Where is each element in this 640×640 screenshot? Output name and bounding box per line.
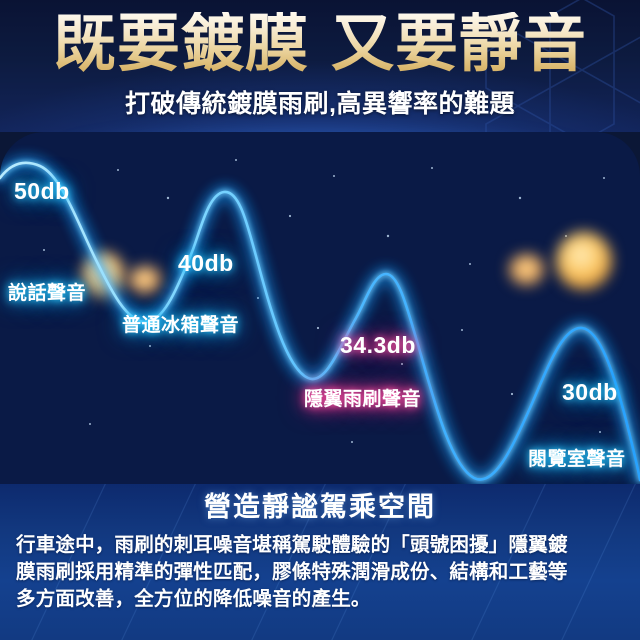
footer-paragraph-line-2: 膜雨刷採用精準的彈性匹配，膠條特殊潤滑成份、結構和工藝等 — [16, 559, 624, 586]
footer-paragraph: 行車途中，雨刷的刺耳噪音堪稱駕駛體驗的「頭號困擾」隱翼鍍 膜雨刷採用精準的彈性匹… — [16, 532, 624, 613]
noise-level-wave — [0, 132, 640, 490]
footer-heading: 營造靜謐駕乘空間 — [0, 492, 640, 522]
data-label-name-1: 普通冰箱聲音 — [122, 310, 239, 337]
data-label-value-3: 30db — [562, 379, 618, 406]
data-label-name-0: 說話聲音 — [8, 278, 86, 305]
noise-chart-panel: 50db 說話聲音 40db 普通冰箱聲音 34.3db 隱翼雨刷聲音 30db… — [0, 132, 640, 490]
data-label-value-0: 50db — [14, 178, 70, 205]
page-title-part-1: 既要鍍膜 — [53, 9, 309, 79]
data-label-name-2: 隱翼雨刷聲音 — [304, 384, 421, 411]
promo-infographic: 既要鍍膜又要靜音 既要鍍膜又要靜音 打破傳統鍍膜雨刷,高異響率的難題 — [0, 0, 640, 640]
data-label-value-2: 34.3db — [340, 332, 416, 359]
page-title-part-2: 又要靜音 — [331, 9, 587, 79]
footer-description-block: 營造靜謐駕乘空間 行車途中，雨刷的刺耳噪音堪稱駕駛體驗的「頭號困擾」隱翼鍍 膜雨… — [0, 484, 640, 640]
footer-paragraph-line-3: 多方面改善，全方位的降低噪音的產生。 — [16, 586, 624, 613]
data-label-name-3: 閱覽室聲音 — [528, 444, 626, 471]
footer-paragraph-line-1: 行車途中，雨刷的刺耳噪音堪稱駕駛體驗的「頭號困擾」隱翼鍍 — [16, 532, 624, 559]
data-label-value-1: 40db — [178, 250, 234, 277]
page-title: 既要鍍膜又要靜音 — [0, 12, 640, 76]
header-banner: 既要鍍膜又要靜音 既要鍍膜又要靜音 打破傳統鍍膜雨刷,高異響率的難題 — [0, 0, 640, 132]
page-subtitle: 打破傳統鍍膜雨刷,高異響率的難題 — [0, 90, 640, 118]
